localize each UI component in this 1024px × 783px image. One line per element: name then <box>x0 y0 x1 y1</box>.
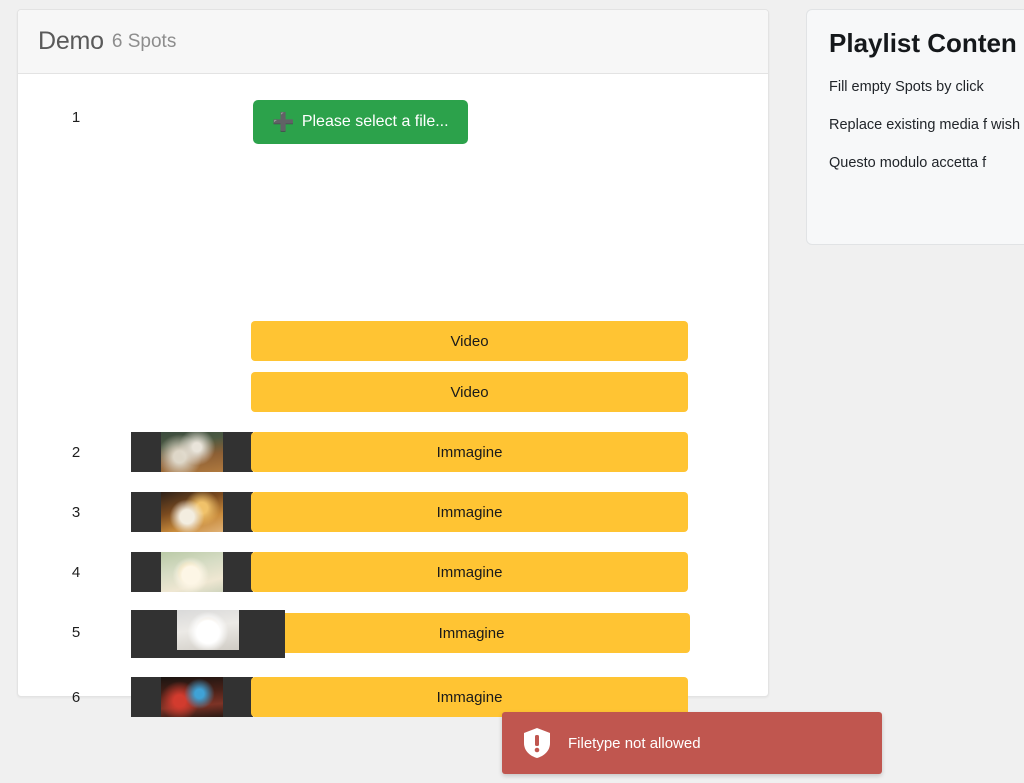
playlist-spot-list: 1 ➕ Please select a file... Video Video … <box>18 74 768 696</box>
spot-row-video-2: Video <box>18 372 768 412</box>
error-toast[interactable]: Filetype not allowed <box>502 712 882 774</box>
info-paragraph-3: Questo modulo accetta f <box>829 153 1024 174</box>
info-paragraph-2: Replace existing media f wish to use. <box>829 115 1024 136</box>
spot-row-1: 1 ➕ Please select a file... <box>18 100 768 146</box>
page-title: Demo <box>38 27 104 56</box>
spot-media-bar[interactable]: Immagine <box>251 677 688 717</box>
spot-media-bar[interactable]: Immagine <box>253 613 690 653</box>
spot-media-bar[interactable]: Video <box>251 321 688 361</box>
playlist-header: Demo 6 Spots <box>18 10 768 74</box>
spot-number: 6 <box>60 689 92 706</box>
thumbnail-image <box>161 432 223 472</box>
spot-media-bar[interactable]: Immagine <box>251 492 688 532</box>
playlist-content-info-panel: Playlist Conten Fill empty Spots by clic… <box>806 9 1024 245</box>
spot-row-6: 6 Immagine <box>18 677 768 717</box>
spot-count-label: 6 Spots <box>112 31 176 53</box>
spot-media-bar[interactable]: Video <box>251 372 688 412</box>
spot-number: 5 <box>60 624 92 641</box>
playlist-card: Demo 6 Spots 1 ➕ Please select a file...… <box>17 9 769 697</box>
toast-message: Filetype not allowed <box>568 735 701 752</box>
spot-thumbnail[interactable] <box>131 492 253 532</box>
thumbnail-image <box>177 610 239 650</box>
info-paragraph-1: Fill empty Spots by click <box>829 77 1024 98</box>
spot-number: 3 <box>60 504 92 521</box>
spot-number: 4 <box>60 564 92 581</box>
spot-row-5: 5 Immagine <box>18 612 768 652</box>
spot-row-4: 4 Immagine <box>18 552 768 592</box>
info-panel-title: Playlist Conten <box>829 28 1024 59</box>
spot-row-3: 3 Immagine <box>18 492 768 532</box>
select-file-button-label: Please select a file... <box>302 113 449 131</box>
spot-media-bar[interactable]: Immagine <box>251 432 688 472</box>
spot-row-video-1: Video <box>18 321 768 361</box>
shield-alert-icon <box>524 728 550 758</box>
spot-number: 1 <box>60 109 92 126</box>
spot-number: 2 <box>60 444 92 461</box>
spot-thumbnail[interactable] <box>131 610 285 658</box>
spot-media-bar[interactable]: Immagine <box>251 552 688 592</box>
spot-thumbnail[interactable] <box>131 432 253 472</box>
select-file-button[interactable]: ➕ Please select a file... <box>253 100 468 144</box>
plus-icon: ➕ <box>272 113 294 131</box>
thumbnail-image <box>161 677 223 717</box>
spot-thumbnail[interactable] <box>131 677 253 717</box>
thumbnail-image <box>161 552 223 592</box>
spot-row-2: 2 Immagine <box>18 432 768 472</box>
thumbnail-image <box>161 492 223 532</box>
spot-thumbnail[interactable] <box>131 552 253 592</box>
